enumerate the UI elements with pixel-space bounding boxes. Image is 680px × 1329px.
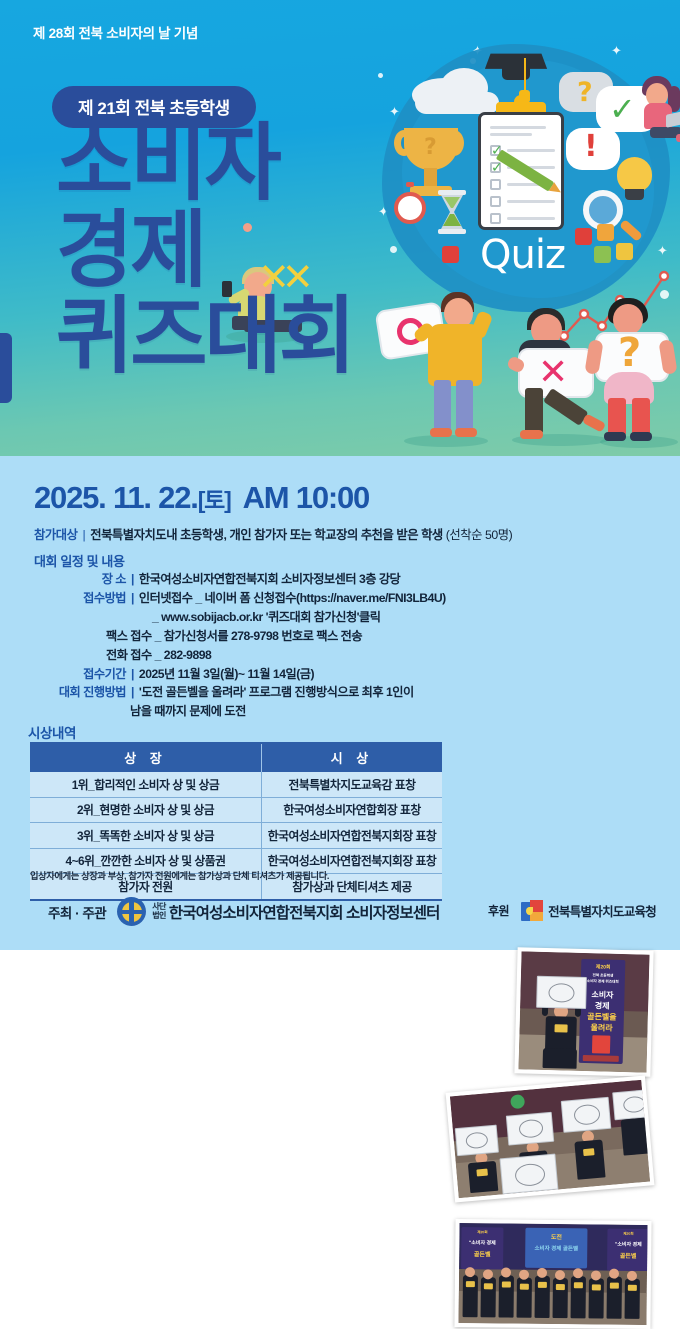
puzzle-piece-icon (616, 243, 633, 260)
target-label: 참가대상 (34, 528, 77, 542)
award-prize: 3위_똑똑한 소비자 상 및 상금 (30, 823, 262, 848)
column-header-award: 시 상 (262, 744, 442, 772)
award-value: 전북특별차지도교육감 표창 (262, 772, 442, 797)
edition-badge: 제 21회 전북 초등학생 (52, 86, 256, 128)
schedule-row-value: '도전 골든벨을 울려라' 프로그램 진행방식으로 최후 1인이 (139, 683, 414, 702)
poster-kicker: 제 28회 전북 소비자의 날 기념 (33, 22, 198, 42)
target-separator: | (82, 528, 85, 542)
event-time: AM 10:00 (243, 480, 370, 515)
table-row: 1위_합리적인 소비자 상 및 상금 전북특별차지도교육감 표창 (30, 772, 442, 798)
exclamation-icon: ! (584, 129, 598, 164)
target-value: 전북특별자치도내 초등학생, 개인 참가자 또는 학교장의 추천을 받은 학생 (90, 528, 443, 542)
lightbulb-icon (617, 157, 652, 192)
schedule-row-label: 접수방법 (34, 589, 126, 608)
trophy-stem (424, 168, 437, 188)
cross-answer-icon: ✕ (538, 355, 568, 391)
stopwatch-icon (394, 192, 426, 224)
awards-note: 입상자에게는 상장과 부상, 참가자 전원에게는 참가상과 단체 티셔츠가 제공… (30, 868, 329, 882)
education-office-logo-icon (521, 900, 543, 921)
schedule-row: 장 소|한국여성소비자연합전북지회 소비자정보센터 3층 강당 (34, 570, 454, 589)
lightbulb-base (625, 189, 644, 200)
cloud-icon (415, 92, 499, 114)
quiz-label: Quiz (480, 232, 565, 278)
schedule-row-value: 팩스 접수 _ 참가신청서를 278-9798 번호로 팩스 전송 (106, 627, 362, 646)
schedule-row: 대회 진행방법|'도전 골든벨을 울려라' 프로그램 진행방식으로 최후 1인이 (6, 683, 454, 702)
schedule-row-value: 인터넷접수 _ 네이버 폼 신청접수(https://naver.me/FNI3… (139, 589, 446, 608)
schedule-row: 팩스 접수 _ 참가신청서를 278-9798 번호로 팩스 전송 (34, 627, 454, 646)
page-title: 소비자 경제 퀴즈대회 (56, 120, 353, 380)
decor-dot (378, 73, 383, 78)
stopwatch-button (406, 182, 414, 187)
column-header-prize: 상 장 (30, 744, 262, 772)
schedule-row-value: 남을 때까지 문제에 도전 (130, 702, 246, 721)
poster-header: ✦ ✦ ✦ ✦ ✦ 제 28회 전북 소비자의 날 기념 ? ✓ ! ? (0, 0, 680, 456)
schedule-row-value: 한국여성소비자연합전북지회 소비자정보센터 3층 강당 (139, 570, 400, 589)
sparkle-icon: ✦ (611, 43, 622, 59)
title-line-3: 퀴즈대회 (56, 293, 353, 380)
award-prize: 1위_합리적인 소비자 상 및 상금 (30, 772, 262, 797)
schedule-row-value: 전화 접수 _ 282-9898 (106, 646, 211, 665)
schedule-row: _ www.sobijacb.or.kr '퀴즈대회 참가신청'클릭 (34, 608, 454, 627)
girl-shoe (676, 134, 680, 142)
title-line-2: 경제 (56, 207, 353, 294)
table-row: 2위_현명한 소비자 상 및 상금 한국여성소비자연합회장 표창 (30, 798, 442, 824)
title-line-1: 소비자 (56, 120, 353, 207)
schedule-row: 접수기간|2025년 11월 3일(월)~ 11월 14일(금) (34, 665, 454, 684)
schedule-row: 남을 때까지 문제에 도전 (34, 702, 454, 721)
schedule-row: 접수방법|인터넷접수 _ 네이버 폼 신청접수(https://naver.me… (34, 589, 454, 608)
host-block: 주최 · 주관 사단 법인 한국여성소비자연합전북지회 소비자정보센터 (48, 897, 440, 926)
award-value: 한국여성소비자연합전북지회장 표창 (262, 823, 442, 848)
awards-table-header: 상 장 시 상 (30, 744, 442, 772)
schedule-rows: 장 소|한국여성소비자연합전북지회 소비자정보센터 3층 강당 접수방법|인터넷… (34, 570, 454, 721)
target-capacity: (선착순 50명) (446, 528, 513, 542)
sponsor-block: 후원 전북특별자치도교육청 (488, 900, 656, 921)
award-value: 한국여성소비자연합회장 표창 (262, 798, 442, 823)
sponsor-label: 후원 (488, 902, 509, 919)
puzzle-piece-icon (594, 246, 611, 263)
decor-dot (390, 246, 397, 253)
award-prize: 2위_현명한 소비자 상 및 상금 (30, 798, 262, 823)
corp-prefix-line2: 법인 (152, 911, 166, 920)
corp-prefix: 사단 법인 (152, 903, 166, 920)
decor-bar (0, 333, 12, 403)
hourglass-icon (437, 190, 467, 234)
schedule-row-value: _ www.sobijacb.or.kr '퀴즈대회 참가신청'클릭 (152, 608, 380, 627)
table-row: 3위_똑똑한 소비자 상 및 상금 한국여성소비자연합전북지회장 표창 (30, 823, 442, 849)
schedule-row-value: 2025년 11월 3일(월)~ 11월 14일(금) (139, 665, 314, 684)
puzzle-piece-icon (442, 246, 459, 263)
question-answer-icon: ? (618, 333, 641, 373)
schedule-row: 전화 접수 _ 282-9898 (34, 646, 454, 665)
check-icon: ✓ (609, 90, 636, 128)
schedule-row-label: 대회 진행방법 (6, 683, 126, 702)
awards-heading: 시상내역 (28, 722, 76, 742)
target-audience: 참가대상|전북특별자치도내 초등학생, 개인 참가자 또는 학교장의 추천을 받… (34, 525, 512, 543)
puzzle-piece-icon (597, 224, 614, 241)
event-datetime: 2025. 11. 22.[토]AM 10:00 (34, 480, 369, 516)
sponsor-name: 전북특별자치도교육청 (548, 901, 656, 920)
event-photo-3: 제20회 "소비자 경제 골든벨 도전 소비자 경제 골든벨 제20회 "소비자… (454, 1219, 651, 1329)
puzzle-piece-icon (575, 228, 592, 245)
event-day-of-week: [토] (198, 487, 231, 513)
tassel-icon (524, 58, 526, 92)
event-photo-1: 제20회 전북 초등학생 소비자 경제 퀴즈대회 소비자 경제 골든벨을 울려라 (514, 947, 653, 1077)
host-name: 한국여성소비자연합전북지회 소비자정보센터 (169, 901, 440, 923)
event-date: 2025. 11. 22. (34, 480, 198, 515)
schedule-row-label: 장 소 (34, 570, 126, 589)
event-photo-2 (446, 1075, 655, 1202)
poster-body: 2025. 11. 22.[토]AM 10:00 참가대상|전북특별자치도내 초… (0, 456, 680, 950)
schedule-heading: 대회 일정 및 내용 (34, 551, 125, 570)
organization-emblem-icon (117, 897, 146, 926)
trophy-question-icon: ? (424, 135, 437, 160)
schedule-row-label: 접수기간 (34, 665, 126, 684)
sparkle-icon: ✦ (657, 243, 668, 259)
question-mark-icon: ? (577, 77, 593, 108)
host-label: 주최 · 주관 (48, 902, 106, 922)
